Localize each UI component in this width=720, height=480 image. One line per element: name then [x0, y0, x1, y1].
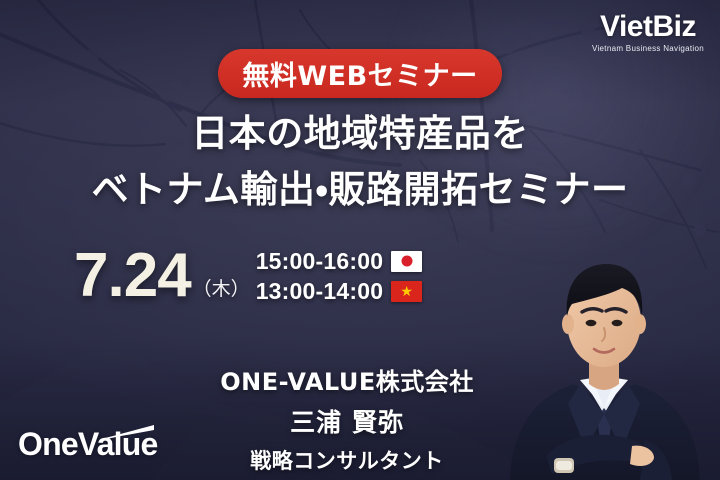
free-webinar-badge-label: 無料WEBセミナー: [242, 54, 477, 93]
schedule-time-japan: 15:00-16:00: [256, 248, 384, 275]
headline-line-1: 日本の地域特産品を: [0, 112, 720, 156]
schedule-time-vietnam: 13:00-14:00: [256, 278, 384, 305]
event-day-of-week: （木）: [193, 274, 250, 301]
speaker-portrait-photo: [494, 218, 714, 480]
headline: 日本の地域特産品を ベトナム輸出・販路開拓セミナー: [0, 112, 720, 212]
vietbiz-logo: VietBiz Vietnam Business Navigation: [592, 12, 704, 53]
vietnam-flag-icon: ★: [391, 281, 422, 302]
schedule-row-vietnam: 13:00-14:00 ★: [256, 278, 423, 305]
headline-line-2: ベトナム輸出・販路開拓セミナー: [0, 168, 720, 212]
vietnam-flag-star: ★: [400, 284, 413, 298]
vietbiz-logo-tagline: Vietnam Business Navigation: [592, 45, 704, 53]
onevalue-logo-wordmark: OneValue: [18, 428, 157, 460]
onevalue-logo: OneValue: [18, 428, 157, 460]
event-date: 7.24: [74, 245, 191, 307]
webinar-banner: VietBiz Vietnam Business Navigation 無料WE…: [0, 0, 720, 480]
japan-flag-icon: [391, 251, 422, 272]
free-webinar-badge: 無料WEBセミナー: [218, 49, 502, 98]
schedule-list: 15:00-16:00 13:00-14:00 ★: [256, 248, 423, 305]
onevalue-swoosh-icon: [105, 425, 155, 439]
vietbiz-logo-wordmark: VietBiz: [592, 12, 704, 42]
schedule-row-japan: 15:00-16:00: [256, 248, 423, 275]
